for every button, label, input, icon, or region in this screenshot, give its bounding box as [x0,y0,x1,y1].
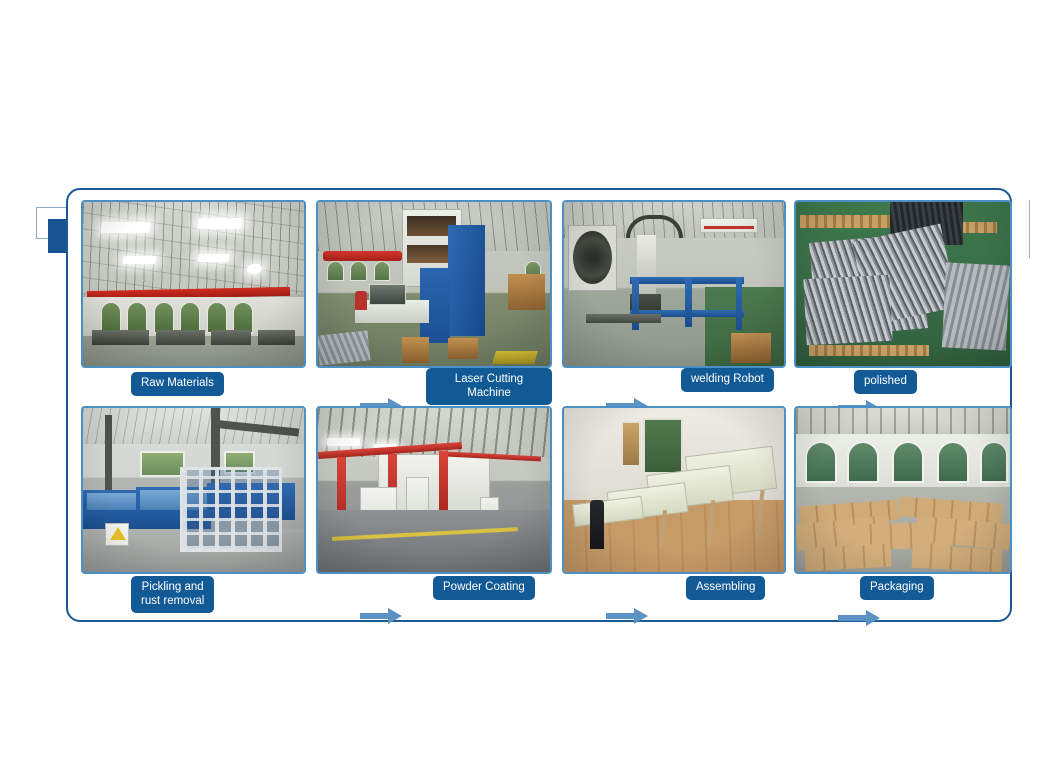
factory-hall-photo [81,200,306,368]
workflow-row-2: Pickling and rust removal [68,402,1010,608]
welding-robot-photo [562,200,786,368]
polished-parts-photo [794,200,1012,368]
workflow-rows: Raw Materials [68,190,1010,620]
assembling-line-photo [562,406,786,574]
stage-label-packaging[interactable]: Packaging [860,576,934,600]
stage-label-pickling[interactable]: Pickling and rust removal [131,576,214,613]
pickling-tanks-photo [81,406,306,574]
laser-cutting-machine-photo [316,200,552,368]
stage-label-polished[interactable]: polished [854,370,917,394]
powder-coating-line-photo [316,406,552,574]
workflow-row-1: Raw Materials [68,196,1010,402]
stage-label-raw-materials[interactable]: Raw Materials [131,372,224,396]
workflow-frame: Raw Materials [66,188,1012,622]
slide-header: Production Workflow Chart TOP OST [0,96,1060,166]
stage-label-welding-robot[interactable]: welding Robot [681,368,774,392]
packaged-boxes-photo [794,406,1012,574]
arrow-right-icon [360,608,402,624]
arrow-right-icon [838,610,880,626]
stage-label-powder-coating[interactable]: Powder Coating [433,576,535,600]
slide-canvas: Production Workflow Chart TOP OST [0,0,1060,762]
stage-label-assembling[interactable]: Assembling [686,576,765,600]
arrow-right-icon [606,608,648,624]
stage-label-laser-cutting[interactable]: Laser Cutting Machine [426,368,552,405]
brand-divider [1029,200,1031,258]
